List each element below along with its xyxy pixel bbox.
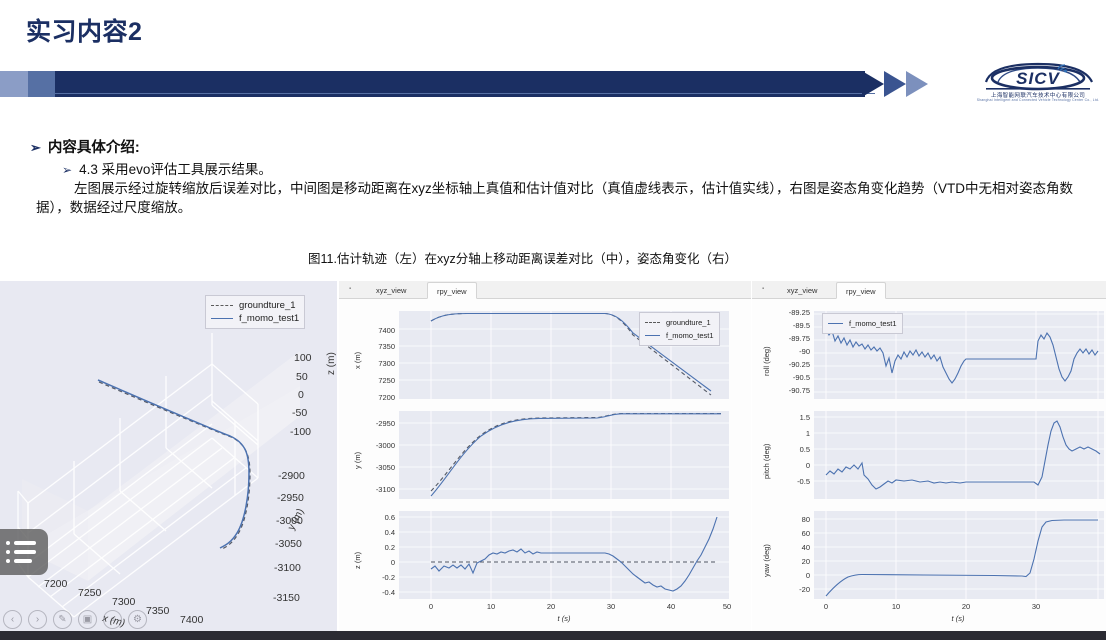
- chevron-right-icon: [884, 71, 906, 97]
- banner-underline: [45, 93, 875, 94]
- x-tick: 0: [421, 602, 441, 611]
- z-tick: 50: [296, 371, 308, 383]
- chevron-right-icon: [906, 71, 928, 97]
- bullet-dot-icon: [6, 559, 10, 563]
- bullet-level1: ➢内容具体介绍:: [30, 136, 140, 157]
- y-tick: 0.6: [365, 513, 395, 522]
- save-icon[interactable]: ▣: [78, 610, 97, 629]
- pin-icon: ▪: [762, 286, 764, 292]
- header-banner: [0, 71, 1106, 101]
- y-tick: -0.2: [365, 573, 395, 582]
- panel-xyz-view[interactable]: ▪ xyz_view rpy_view: [339, 281, 751, 631]
- bullet-level2-label: 4.3 采用evo评估工具展示结果。: [79, 162, 272, 177]
- forward-icon[interactable]: ›: [28, 610, 47, 629]
- y-tick: -3050: [361, 463, 395, 472]
- solid-line-icon: [211, 318, 233, 319]
- tabbar-right[interactable]: ▪ xyz_view rpy_view: [752, 281, 1106, 299]
- x-tick: 7250: [78, 587, 101, 599]
- legend-item: groundture_1: [211, 299, 299, 312]
- subplot-z-vs-t[interactable]: [399, 511, 729, 599]
- legend-item: f_momo_test1: [828, 317, 897, 330]
- y-axis-label-roll: roll (deg): [762, 346, 771, 376]
- logo-company-en: Shanghai Intelligent and Connected Vehic…: [976, 98, 1100, 102]
- y-tick: 0: [365, 558, 395, 567]
- pin-icon: ▪: [349, 286, 351, 292]
- x-axis-label-t: t (s): [534, 614, 594, 623]
- y-tick: -89.25: [770, 308, 810, 317]
- menu-line-icon: [14, 559, 32, 563]
- y-tick: -90.25: [770, 360, 810, 369]
- y-tick: -90: [770, 347, 810, 356]
- subplot-pitch-vs-t[interactable]: [814, 411, 1104, 499]
- body-paragraph: 左图展示经过旋转缩放后误差对比，中间图是移动距离在xyz坐标轴上真值和估计值对比…: [36, 180, 1088, 217]
- subplot-y-vs-t[interactable]: [399, 411, 729, 499]
- y-tick: -0.4: [365, 588, 395, 597]
- y-tick: -2900: [278, 470, 305, 482]
- legend-rpy-view: f_momo_test1: [822, 313, 903, 334]
- figure-caption: 图11.估计轨迹（左）在xyz分轴上移动距离误差对比（中），姿态角变化（右）: [0, 248, 1045, 267]
- y-tick: 7350: [361, 342, 395, 351]
- y-tick: 0: [782, 571, 810, 580]
- x-axis-label-t: t (s): [928, 614, 988, 623]
- list-menu-widget[interactable]: [0, 529, 48, 575]
- y-axis-label-pitch: pitch (deg): [762, 444, 771, 479]
- y-tick: -90.75: [770, 386, 810, 395]
- tab-rpy-view[interactable]: rpy_view: [427, 282, 477, 299]
- y-axis-label-z: z (m): [353, 552, 362, 569]
- slide-root: 实习内容2 SICV 上海智能网联汽车技术中心有限公司 Shanghai Int…: [0, 0, 1106, 640]
- svg-text:SICV: SICV: [1016, 69, 1060, 88]
- x-tick: 30: [1026, 602, 1046, 611]
- legend-label: groundture_1: [239, 299, 296, 312]
- x-tick: 20: [956, 602, 976, 611]
- y-tick: 7300: [361, 359, 395, 368]
- y-tick: 0.5: [778, 445, 810, 454]
- y-tick: 0.2: [365, 543, 395, 552]
- back-icon[interactable]: ‹: [3, 610, 22, 629]
- y-tick: 7200: [361, 393, 395, 402]
- y-tick: 7400: [361, 326, 395, 335]
- z-tick: -100: [290, 426, 311, 438]
- matplotlib-nav-toolbar[interactable]: ‹ › ✎ ▣ ⌕ ⚙: [0, 607, 200, 631]
- y-tick: -0.5: [778, 477, 810, 486]
- taskbar: [0, 631, 1106, 640]
- panel-rpy-view[interactable]: ▪ xyz_view rpy_view: [752, 281, 1106, 631]
- legend-trajectory-3d: groundture_1 f_momo_test1: [205, 295, 305, 329]
- legend-label: f_momo_test1: [666, 329, 714, 342]
- y-tick: -3000: [361, 441, 395, 450]
- y-tick: 1: [778, 429, 810, 438]
- y-tick: 60: [782, 529, 810, 538]
- legend-label: f_momo_test1: [239, 312, 299, 325]
- y-tick: -89.5: [770, 321, 810, 330]
- x-tick: 10: [481, 602, 501, 611]
- solid-line-icon: [828, 323, 843, 324]
- y-tick: -2950: [277, 492, 304, 504]
- company-logo: SICV 上海智能网联汽车技术中心有限公司 Shanghai Intellige…: [976, 62, 1100, 106]
- y-tick: -89.75: [770, 334, 810, 343]
- bullet-level1-label: 内容具体介绍:: [48, 140, 140, 156]
- tab-xyz-view[interactable]: xyz_view: [778, 282, 826, 299]
- y-tick: -3150: [273, 592, 300, 604]
- y-tick: -2950: [361, 419, 395, 428]
- y-tick: -3050: [275, 538, 302, 550]
- y-tick: 1.5: [778, 413, 810, 422]
- bullet-arrow-icon: ➢: [30, 140, 41, 155]
- legend-item: f_momo_test1: [211, 312, 299, 325]
- z-tick: -50: [292, 407, 307, 419]
- page-title: 实习内容2: [26, 12, 142, 48]
- x-tick: 0: [816, 602, 836, 611]
- bullet-arrow-icon: ➢: [62, 163, 72, 177]
- tabbar-middle[interactable]: ▪ xyz_view rpy_view: [339, 281, 751, 299]
- y-tick: -3100: [361, 485, 395, 494]
- figure-strip: groundture_1 f_momo_test1 100 50 0 -50 -…: [0, 281, 1106, 631]
- y-axis-label-x: x (m): [353, 352, 362, 369]
- bullet-level2: ➢4.3 采用evo评估工具展示结果。: [62, 158, 272, 178]
- solid-line-icon: [645, 335, 660, 336]
- x-tick: 20: [541, 602, 561, 611]
- chevron-right-icon: [862, 71, 884, 97]
- y-tick: 40: [782, 543, 810, 552]
- y-axis-label-yaw: yaw (deg): [762, 544, 771, 577]
- legend-item: f_momo_test1: [645, 329, 714, 342]
- subplot-yaw-vs-t[interactable]: [814, 511, 1104, 599]
- bullet-dot-icon: [6, 550, 10, 554]
- y-tick: 80: [782, 515, 810, 524]
- legend-item: groundture_1: [645, 316, 714, 329]
- x-tick: 7200: [44, 578, 67, 590]
- tab-xyz-view[interactable]: xyz_view: [367, 282, 415, 299]
- x-tick: 10: [886, 602, 906, 611]
- z-axis-label: z (m): [326, 352, 337, 375]
- bullet-dot-icon: [6, 541, 10, 545]
- x-tick: 50: [717, 602, 737, 611]
- y-tick: 0.4: [365, 528, 395, 537]
- x-tick: 40: [661, 602, 681, 611]
- y-tick: 7250: [361, 376, 395, 385]
- y-tick: 0: [778, 461, 810, 470]
- menu-line-icon: [14, 550, 36, 554]
- menu-line-icon: [14, 541, 36, 545]
- configure-icon[interactable]: ⚙: [128, 610, 147, 629]
- plot-trajectory-3d[interactable]: groundture_1 f_momo_test1 100 50 0 -50 -…: [0, 281, 337, 631]
- y-tick: -20: [782, 585, 810, 594]
- legend-label: f_momo_test1: [849, 317, 897, 330]
- tab-rpy-view[interactable]: rpy_view: [836, 282, 886, 299]
- z-tick: 0: [298, 389, 304, 401]
- z-tick: 100: [294, 352, 312, 364]
- pan-icon[interactable]: ✎: [53, 610, 72, 629]
- y-axis-label-y: y (m): [353, 452, 362, 469]
- y-tick: -90.5: [770, 373, 810, 382]
- legend-label: groundture_1: [666, 316, 711, 329]
- x-tick: 30: [601, 602, 621, 611]
- legend-xyz-view: groundture_1 f_momo_test1: [639, 312, 720, 346]
- dashed-line-icon: [211, 305, 233, 306]
- zoom-icon[interactable]: ⌕: [103, 610, 122, 629]
- y-tick: -3100: [274, 562, 301, 574]
- y-tick: 20: [782, 557, 810, 566]
- dashed-line-icon: [645, 322, 660, 323]
- sicv-logo-icon: SICV: [976, 62, 1100, 92]
